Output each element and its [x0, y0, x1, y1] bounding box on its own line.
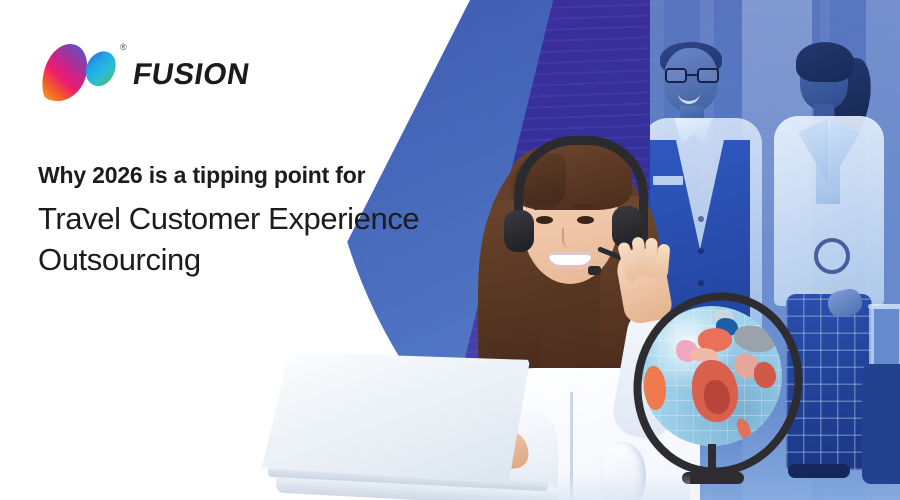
agent-finger [656, 244, 671, 279]
suitcase-body [862, 364, 900, 484]
headset-earcup [504, 210, 534, 252]
desk-laptop [262, 352, 562, 500]
traveller-belt-buckle [814, 238, 850, 274]
headline-title-line-1: Travel Customer Experience [38, 201, 419, 236]
headline-kicker: Why 2026 is a tipping point for [38, 160, 508, 190]
agent-smile [548, 252, 592, 269]
eyeglasses-icon [665, 68, 719, 83]
hero-banner: ® FUSION Why 2026 is a tipping point for… [0, 0, 900, 500]
globe-meridian-ring [614, 274, 822, 493]
fusion-wordmark: FUSION [130, 58, 252, 92]
desk-globe [630, 292, 800, 500]
headset-microphone-icon [588, 266, 601, 275]
headline-title: Travel Customer Experience Outsourcing [38, 198, 508, 280]
globe-stand-neck [708, 444, 716, 474]
headline-block: Why 2026 is a tipping point for Travel C… [38, 160, 508, 280]
rolling-suitcase [852, 300, 900, 490]
fusion-logo[interactable]: ® FUSION [36, 38, 246, 104]
fusion-m-swoosh-logo-icon [36, 38, 122, 102]
globe-stand-base [682, 472, 744, 484]
headline-title-line-2: Outsourcing [38, 242, 201, 277]
suitcase-handle-rod [869, 308, 874, 368]
laptop-lid [262, 352, 530, 484]
registered-trademark-symbol: ® [120, 42, 127, 52]
traveller-hair [796, 42, 854, 82]
